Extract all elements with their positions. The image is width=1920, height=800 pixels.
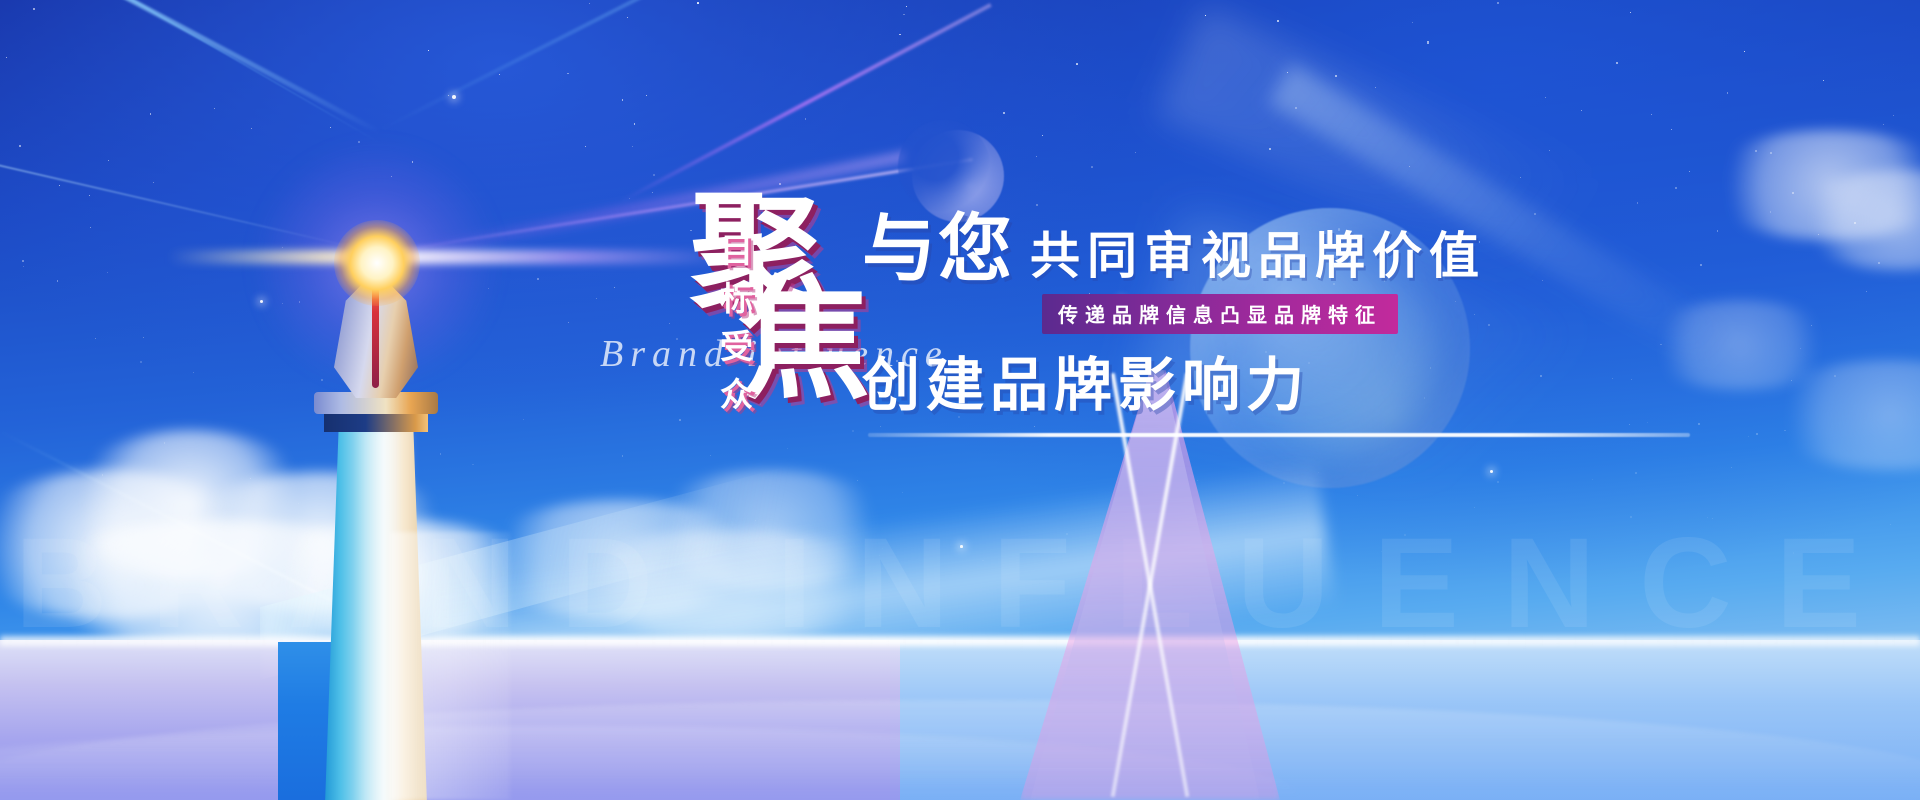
audience-label: 目标受众 bbox=[720, 224, 756, 416]
headline-line-1-lead: 与您 bbox=[862, 212, 1014, 286]
star-dot bbox=[1893, 115, 1894, 116]
star-dot bbox=[646, 95, 647, 96]
star-dot bbox=[33, 8, 35, 10]
copy-block: 聚 Brand influence 焦 目标受众 与您 共同审视品牌价值 传递品… bbox=[690, 190, 1870, 610]
star-dot bbox=[899, 34, 901, 36]
star-dot bbox=[1675, 187, 1677, 189]
star-dot bbox=[1036, 156, 1037, 157]
star-dot bbox=[1375, 87, 1376, 88]
star-dot bbox=[1689, 171, 1690, 172]
star-dot bbox=[1335, 75, 1337, 77]
star-dot bbox=[1823, 80, 1825, 82]
star-dot bbox=[1287, 72, 1288, 73]
star-dot-bright bbox=[452, 95, 456, 99]
star-dot bbox=[6, 57, 8, 59]
star-dot bbox=[629, 198, 630, 199]
star-dot bbox=[150, 113, 151, 114]
divider-rule bbox=[868, 433, 1690, 437]
headline-line-1-rest: 共同审视品牌价值 bbox=[1030, 230, 1486, 287]
light-ray-upper-left-thin bbox=[0, 0, 381, 144]
star-dot bbox=[596, 298, 597, 299]
star-dot bbox=[903, 14, 905, 16]
star-dot bbox=[627, 17, 628, 18]
star-dot bbox=[622, 99, 624, 101]
star-dot bbox=[805, 118, 807, 120]
star-dot bbox=[167, 487, 168, 488]
star-dot bbox=[697, 2, 699, 4]
star-dot bbox=[57, 280, 58, 281]
star-dot bbox=[1427, 41, 1429, 43]
star-dot bbox=[634, 123, 636, 125]
star-dot bbox=[1427, 42, 1429, 44]
star-dot bbox=[22, 260, 24, 262]
star-dot bbox=[140, 361, 142, 363]
star-dot bbox=[23, 266, 25, 268]
star-dot bbox=[589, 3, 590, 4]
star-dot bbox=[1412, 22, 1414, 24]
star-dot bbox=[669, 323, 671, 325]
star-dot bbox=[1878, 262, 1880, 264]
star-dot bbox=[214, 108, 215, 109]
star-dot bbox=[614, 287, 615, 288]
right-copy-block: 与您 共同审视品牌价值 传递品牌信息凸显品牌特征 创建品牌影响力 bbox=[862, 212, 1862, 437]
star-dot bbox=[499, 74, 500, 75]
star-dot bbox=[1727, 92, 1728, 93]
star-dot bbox=[622, 455, 624, 457]
star-dot bbox=[59, 185, 60, 186]
star-dot bbox=[1076, 63, 1078, 65]
star-dot bbox=[1409, 166, 1410, 167]
star-dot bbox=[95, 338, 97, 340]
star-dot bbox=[193, 372, 194, 373]
star-dot bbox=[250, 478, 251, 479]
lighthouse-pen-tower bbox=[298, 232, 498, 800]
star-dot bbox=[679, 419, 681, 421]
star-dot bbox=[1520, 177, 1522, 179]
light-ray-upper-left bbox=[0, 0, 381, 135]
star-dot bbox=[632, 146, 633, 147]
star-dot bbox=[143, 337, 144, 338]
star-dot bbox=[1205, 15, 1206, 16]
star-dot bbox=[906, 6, 907, 7]
headline-line-1: 与您 共同审视品牌价值 bbox=[862, 212, 1862, 286]
star-dot bbox=[1630, 12, 1631, 13]
star-dot bbox=[164, 442, 165, 443]
star-dot bbox=[1671, 129, 1672, 130]
star-dot bbox=[428, 50, 429, 51]
star-dot bbox=[652, 192, 653, 193]
star-dot bbox=[1581, 110, 1582, 111]
star-dot bbox=[1295, 107, 1297, 109]
star-dot bbox=[1755, 150, 1757, 152]
star-dot bbox=[108, 160, 109, 161]
headline-char-jiao: 焦 bbox=[738, 276, 870, 408]
nib-light-glow bbox=[334, 220, 420, 306]
star-dot bbox=[251, 128, 252, 129]
star-dot bbox=[1003, 112, 1005, 114]
star-dot bbox=[568, 322, 569, 323]
star-dot bbox=[523, 419, 524, 420]
star-dot bbox=[1497, 2, 1499, 4]
tower-sheen bbox=[390, 532, 510, 800]
headline-line-2: 创建品牌影响力 bbox=[862, 356, 1862, 417]
star-dot bbox=[1277, 20, 1279, 22]
star-dot bbox=[102, 474, 104, 476]
star-dot bbox=[1883, 124, 1884, 125]
star-dot bbox=[1549, 150, 1550, 151]
light-ray-upper-right bbox=[379, 0, 1521, 132]
tower-collar-dark bbox=[324, 412, 428, 432]
star-dot bbox=[1269, 148, 1271, 150]
star-dot bbox=[585, 146, 586, 147]
star-dot bbox=[653, 174, 655, 176]
star-dot bbox=[1744, 51, 1745, 52]
star-dot bbox=[153, 182, 154, 183]
star-dot bbox=[1651, 114, 1652, 115]
star-dot bbox=[89, 195, 90, 196]
star-dot bbox=[567, 73, 568, 74]
star-dot bbox=[1545, 97, 1546, 98]
star-dot bbox=[1042, 135, 1043, 136]
star-dot bbox=[1616, 62, 1618, 64]
star-dot bbox=[90, 227, 91, 228]
star-dot bbox=[1135, 152, 1136, 153]
star-dot bbox=[330, 127, 331, 128]
brand-banner: BRAND INFLUENCE 聚 Brand influence 焦 目标受众 bbox=[0, 0, 1920, 800]
nib-lens-flare bbox=[168, 250, 728, 264]
star-dot bbox=[1770, 152, 1772, 154]
tagline-badge: 传递品牌信息凸显品牌特征 bbox=[1042, 294, 1398, 334]
star-dot bbox=[537, 278, 539, 280]
star-dot bbox=[448, 95, 449, 96]
star-dot bbox=[107, 272, 108, 273]
star-dot bbox=[19, 145, 21, 147]
star-dot bbox=[1091, 166, 1093, 168]
